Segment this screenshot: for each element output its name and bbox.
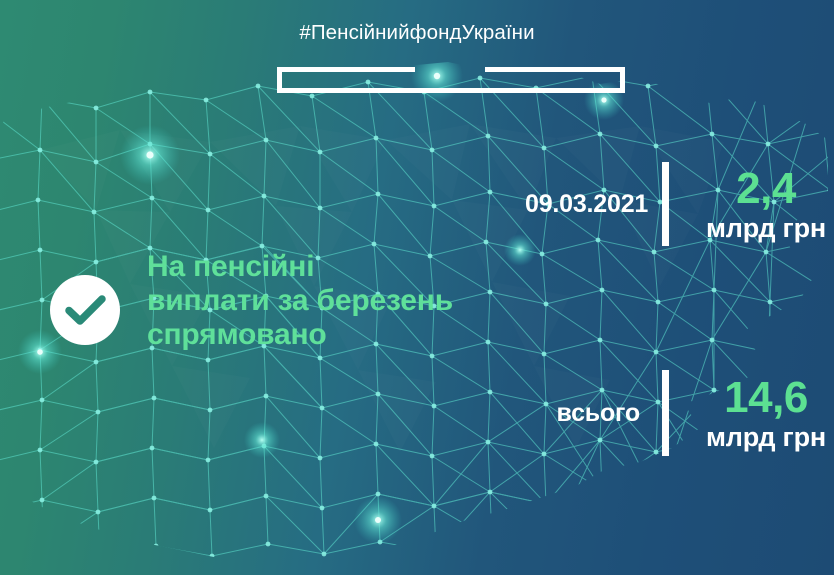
infographic-poster: #ПенсійнийфондУкраїни На пенсійні виплат… [0,0,834,575]
hashtag-label: #ПенсійнийфондУкраїни [0,21,834,45]
headline-line-3: спрямовано [147,318,547,352]
stat-total-value: 14,6 [691,376,834,420]
logo-frame-top-right-segment [485,67,625,72]
stat-divider [662,162,669,246]
stat-date-unit: млрд грн [691,215,834,242]
stat-date-label: 09.03.2021 [525,190,640,219]
logo-frame-bottom-edge [277,88,625,93]
stat-total-figure: 14,6 млрд грн [691,376,834,451]
stat-block-date-amount: 09.03.2021 2,4 млрд грн [525,162,834,246]
stat-total-unit: млрд грн [691,424,834,451]
stat-divider [662,370,669,456]
headline-line-1: На пенсійні [147,250,547,284]
logo-frame-top-left-segment [277,67,415,72]
check-icon [50,275,120,345]
stat-block-total-amount: всього 14,6 млрд грн [525,370,834,456]
stat-date-value: 2,4 [691,167,834,211]
stat-total-label: всього [525,399,640,428]
logo-frame [277,67,625,93]
stat-date-figure: 2,4 млрд грн [691,167,834,242]
headline-line-2: виплати за березень [147,284,547,318]
page-title: На пенсійні виплати за березень спрямова… [147,250,547,352]
